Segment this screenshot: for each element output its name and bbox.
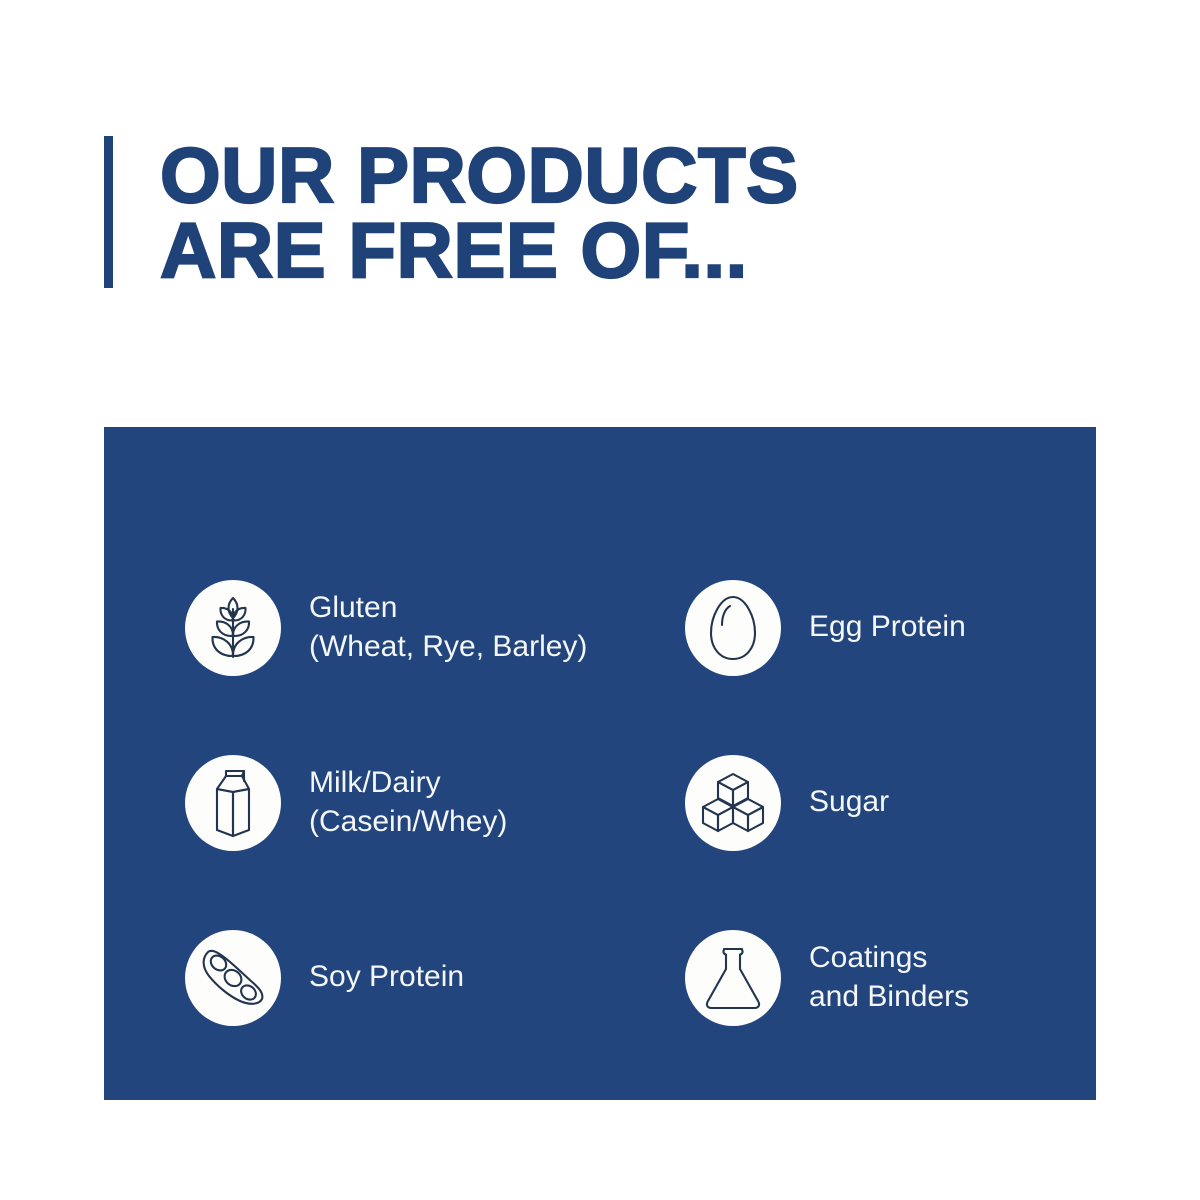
sugar-cubes-icon-badge: [685, 755, 781, 851]
list-item-label: Gluten (Wheat, Rye, Barley): [309, 589, 587, 666]
egg-icon-badge: [685, 580, 781, 676]
list-item-label: Sugar: [809, 783, 889, 821]
free-from-grid: Gluten (Wheat, Rye, Barley) Egg Protein: [185, 540, 1045, 1065]
milk-carton-icon: [204, 768, 262, 838]
egg-icon: [706, 594, 760, 662]
list-item-gluten: Gluten (Wheat, Rye, Barley): [185, 540, 685, 715]
page-title: OUR PRODUCTS ARE FREE OF...: [160, 136, 799, 288]
wheat-icon-badge: [185, 580, 281, 676]
free-from-panel: Gluten (Wheat, Rye, Barley) Egg Protein: [104, 427, 1096, 1100]
list-item-soy-protein: Soy Protein: [185, 890, 685, 1065]
erlenmeyer-flask-icon-badge: [685, 930, 781, 1026]
list-item-label: Milk/Dairy (Casein/Whey): [309, 764, 507, 841]
soybean-pod-icon: [199, 947, 267, 1009]
list-item-egg-protein: Egg Protein: [685, 540, 1045, 715]
soybean-pod-icon-badge: [185, 930, 281, 1026]
list-item-sugar: Sugar: [685, 715, 1045, 890]
list-item-coatings-and-binders: Coatings and Binders: [685, 890, 1045, 1065]
page-heading: OUR PRODUCTS ARE FREE OF...: [104, 136, 799, 288]
list-item-label: Soy Protein: [309, 958, 464, 996]
heading-accent-bar: [104, 136, 113, 288]
sugar-cubes-icon: [700, 771, 766, 835]
erlenmeyer-flask-icon: [702, 945, 764, 1011]
list-item-label: Coatings and Binders: [809, 939, 969, 1016]
wheat-icon: [202, 595, 264, 661]
milk-carton-icon-badge: [185, 755, 281, 851]
list-item-label: Egg Protein: [809, 608, 966, 646]
list-item-milk-dairy: Milk/Dairy (Casein/Whey): [185, 715, 685, 890]
